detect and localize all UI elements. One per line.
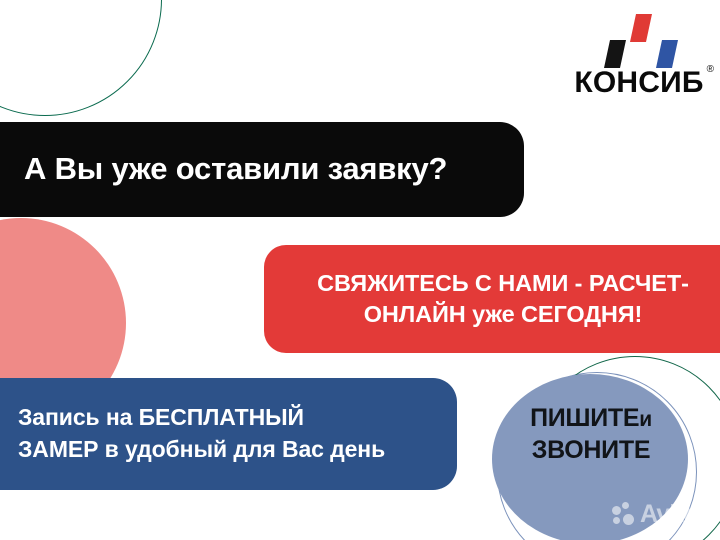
- contact-banner-line2-part2: уже: [472, 301, 514, 327]
- watermark-dot: [622, 502, 629, 509]
- brand-wordmark: КОНСИБ: [566, 68, 712, 98]
- free-measurement-banner: Запись на БЕСПЛАТНЫЙ ЗАМЕР в удобный для…: [0, 378, 457, 490]
- contact-banner-line1: СВЯЖИТЕСЬ С НАМИ - РАСЧЕТ-: [317, 270, 689, 296]
- measure-banner-line2: ЗАМЕР в удобный для Вас день: [18, 436, 385, 462]
- watermark-dot: [612, 506, 621, 515]
- contact-banner-line2-part1: ОНЛАЙН: [364, 301, 466, 327]
- cta-line2: ЗВОНИТЕ: [532, 436, 650, 464]
- measure-banner-line1: Запись на БЕСПЛАТНЫЙ: [18, 404, 304, 430]
- brand-logo: КОНСИБ ®: [566, 14, 712, 104]
- green-ring-decoration-top: [0, 0, 162, 116]
- watermark-text: Avito: [640, 502, 698, 527]
- question-banner: А Вы уже оставили заявку?: [0, 122, 524, 217]
- write-and-call-cta: ПИШИТЕи ЗВОНИТЕ: [492, 402, 690, 466]
- contact-banner: СВЯЖИТЕСЬ С НАМИ - РАСЧЕТ- ОНЛАЙН уже СЕ…: [264, 245, 720, 353]
- konsib-logo-mark-icon: [604, 14, 678, 68]
- measure-banner-text: Запись на БЕСПЛАТНЫЙ ЗАМЕР в удобный для…: [18, 402, 385, 465]
- registered-trademark-symbol: ®: [707, 64, 714, 75]
- contact-banner-line2-part3: СЕГОДНЯ!: [521, 301, 642, 327]
- question-banner-text: А Вы уже оставили заявку?: [24, 152, 447, 186]
- avito-watermark: Avito: [612, 502, 716, 532]
- watermark-dot: [623, 514, 634, 525]
- watermark-dot: [613, 517, 620, 524]
- contact-banner-text: СВЯЖИТЕСЬ С НАМИ - РАСЧЕТ- ОНЛАЙН уже СЕ…: [317, 268, 689, 330]
- cta-line1-strong: ПИШИТЕ: [530, 404, 639, 432]
- promo-banner-canvas: КОНСИБ ® А Вы уже оставили заявку? СВЯЖИ…: [0, 0, 720, 540]
- cta-line1-conjunction: и: [639, 408, 652, 431]
